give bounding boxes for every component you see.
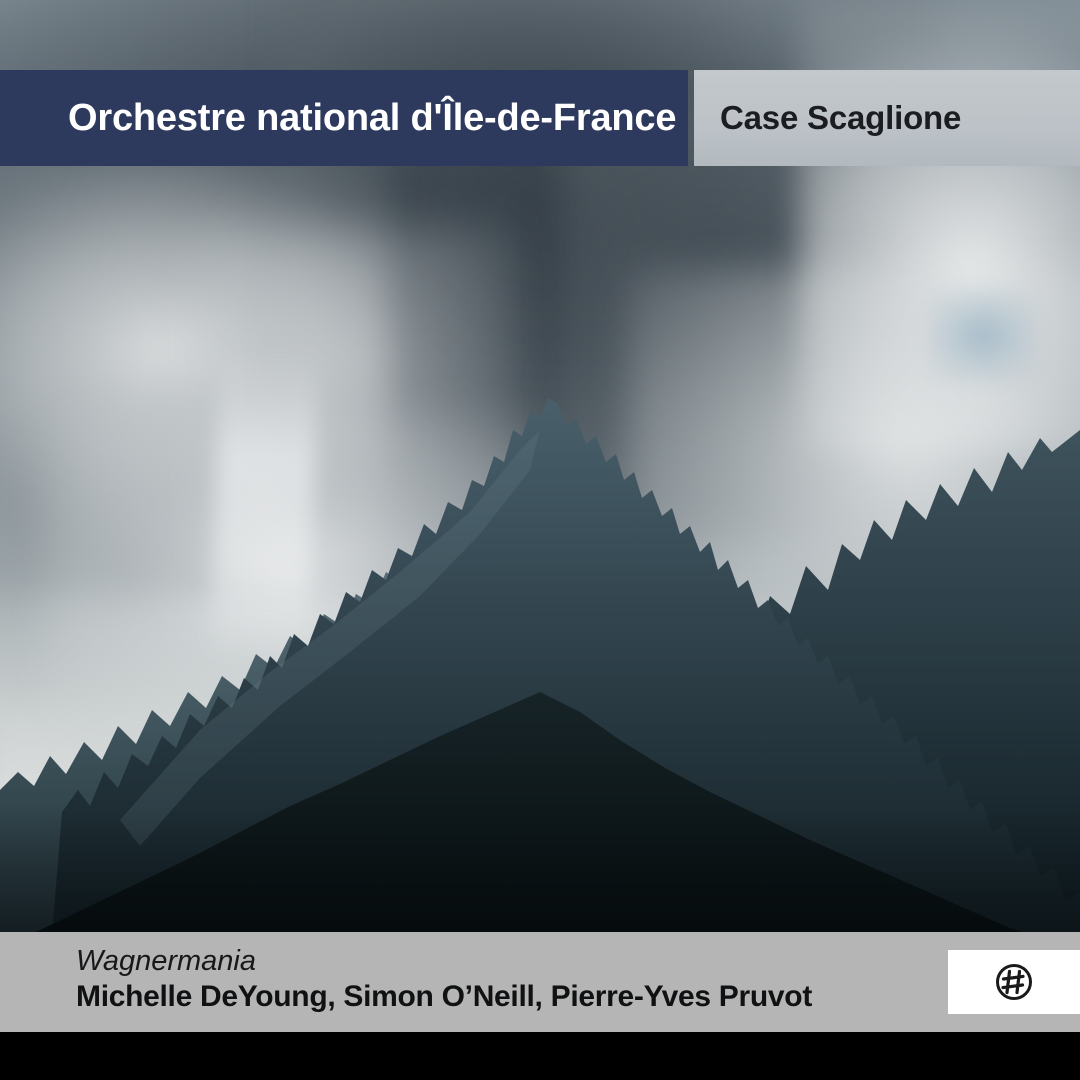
work-title: Wagnermania xyxy=(76,944,812,978)
bottom-black-strip xyxy=(0,1032,1080,1080)
circled-sharp-icon xyxy=(992,960,1036,1004)
record-label-logo-box xyxy=(948,950,1080,1014)
bottom-info-bar: Wagnermania Michelle DeYoung, Simon O’Ne… xyxy=(0,932,1080,1032)
release-text-block: Wagnermania Michelle DeYoung, Simon O’Ne… xyxy=(76,944,812,1016)
orchestra-banner: Orchestre national d'Île-de-France xyxy=(0,70,688,166)
performers-list: Michelle DeYoung, Simon O’Neill, Pierre-… xyxy=(76,978,812,1016)
title-banner-row: Orchestre national d'Île-de-France Case … xyxy=(0,70,1080,166)
conductor-name: Case Scaglione xyxy=(694,99,961,137)
album-cover: Orchestre national d'Île-de-France Case … xyxy=(0,0,1080,1080)
orchestra-name: Orchestre national d'Île-de-France xyxy=(0,97,676,140)
conductor-banner: Case Scaglione xyxy=(694,70,1080,166)
